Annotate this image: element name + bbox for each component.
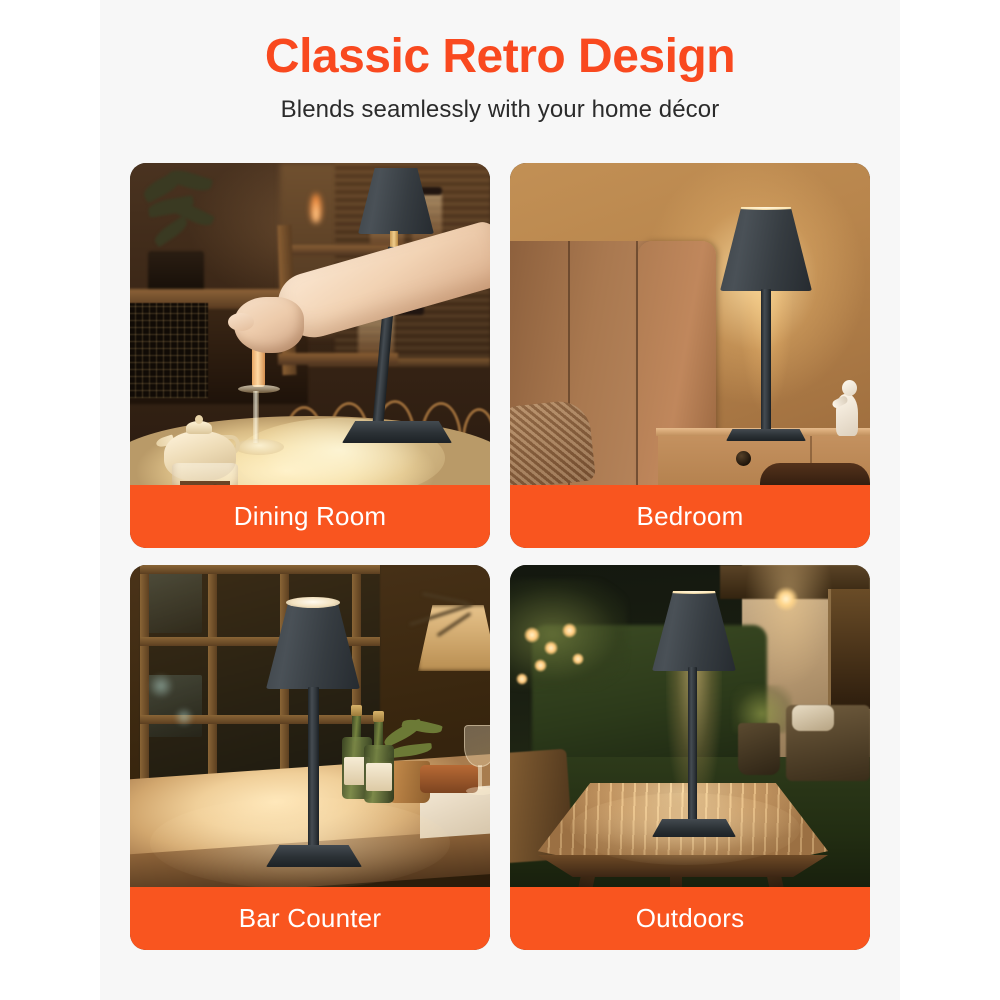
plant-leaf bbox=[152, 215, 191, 247]
patio-cushion bbox=[792, 705, 834, 731]
wall-sconce-light bbox=[774, 587, 798, 611]
string-light bbox=[524, 627, 540, 643]
glass-foot bbox=[234, 439, 284, 455]
lamp-shade bbox=[720, 207, 812, 291]
teapot-knob bbox=[195, 415, 203, 424]
scene-label-bedroom: Bedroom bbox=[510, 485, 870, 548]
drawer-knob bbox=[736, 451, 751, 466]
header: Classic Retro Design Blends seamlessly w… bbox=[100, 0, 900, 124]
figurine bbox=[832, 378, 862, 436]
scene-card-bedroom[interactable]: Bedroom bbox=[510, 163, 870, 548]
bokeh-light bbox=[174, 707, 194, 727]
bokeh-light bbox=[148, 673, 174, 699]
glass-bowl bbox=[464, 725, 490, 767]
window-mullion bbox=[140, 565, 380, 574]
twig bbox=[422, 592, 468, 604]
potted-plant bbox=[138, 173, 224, 263]
scene-card-bar-counter[interactable]: Bar Counter bbox=[130, 565, 490, 950]
scene-label-dining-room: Dining Room bbox=[130, 485, 490, 548]
string-light bbox=[572, 653, 584, 665]
lamp-pole bbox=[688, 667, 697, 827]
dark-chair bbox=[760, 463, 870, 485]
window-mullion bbox=[208, 565, 217, 780]
scene-label-bar-counter: Bar Counter bbox=[130, 887, 490, 950]
lamp-shade bbox=[266, 601, 360, 689]
table-lamp bbox=[250, 593, 380, 863]
glass-stem bbox=[478, 765, 482, 789]
human-thumb bbox=[228, 313, 254, 331]
string-light bbox=[562, 623, 577, 638]
twig bbox=[409, 603, 473, 626]
string-light bbox=[534, 659, 547, 672]
scene-card-outdoors[interactable]: Outdoors bbox=[510, 565, 870, 950]
candle-holder-plate bbox=[238, 385, 280, 393]
string-light bbox=[544, 641, 558, 655]
scene-card-dining-room[interactable]: Dining Room bbox=[130, 163, 490, 548]
glass-stem bbox=[253, 391, 259, 443]
scene-label-outdoors: Outdoors bbox=[510, 887, 870, 950]
outdoors-photo bbox=[510, 565, 870, 887]
dining-room-photo bbox=[130, 163, 490, 485]
wine-glass bbox=[460, 725, 490, 797]
page-subtitle: Blends seamlessly with your home décor bbox=[100, 96, 900, 124]
product-infographic: Classic Retro Design Blends seamlessly w… bbox=[0, 0, 1000, 1000]
figurine-head bbox=[842, 380, 857, 396]
doorway bbox=[828, 589, 870, 709]
table-lamp bbox=[638, 587, 748, 847]
window-pane bbox=[146, 571, 202, 633]
bar-counter-photo bbox=[130, 565, 490, 887]
lamp-base bbox=[266, 845, 362, 867]
lamp-base bbox=[726, 429, 806, 441]
lamp-pole bbox=[308, 687, 319, 855]
decor-branch bbox=[400, 583, 490, 643]
lamp-pole bbox=[761, 289, 771, 437]
table-lamp bbox=[706, 207, 826, 437]
glass-foot bbox=[466, 787, 490, 795]
string-light bbox=[516, 673, 528, 685]
page-title: Classic Retro Design bbox=[100, 32, 900, 82]
lamp-base bbox=[342, 421, 452, 443]
bedroom-photo bbox=[510, 163, 870, 485]
mesh-chair-back bbox=[130, 303, 208, 398]
scene-card-grid: Dining Room bbox=[130, 163, 870, 950]
lamp-shade bbox=[652, 591, 736, 671]
lamp-shade-top-diffuser bbox=[286, 597, 340, 608]
lamp-base bbox=[652, 819, 736, 837]
window-mullion bbox=[140, 565, 149, 780]
